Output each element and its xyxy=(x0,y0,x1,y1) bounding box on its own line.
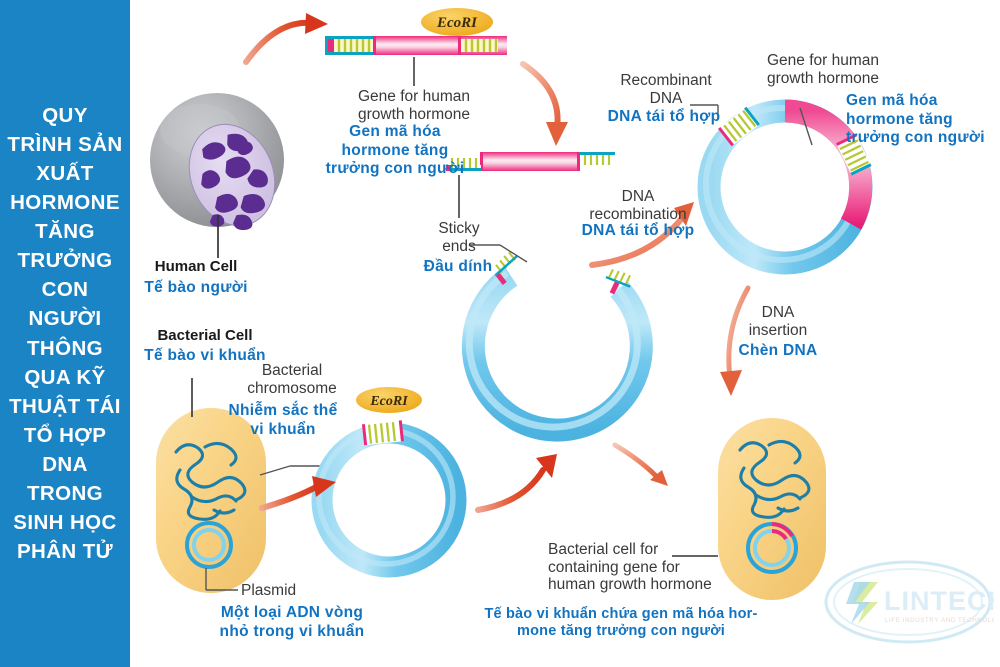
gene-hgh-top-label-en: Gene for human growth hormone xyxy=(334,88,494,123)
watermark-brand: LINTECH xyxy=(884,586,994,616)
human-dna-fragment-graphic xyxy=(325,36,507,86)
bacterial-cell-label-en: Bacterial Cell xyxy=(140,327,270,344)
dna-insertion-label-en: DNA insertion xyxy=(728,304,828,339)
bacterial-chromosome-label-vi: Nhiễm sắc thể vi khuẩn xyxy=(202,402,364,439)
arrow-human-to-dna xyxy=(246,13,328,62)
bacterial-chromosome-label-en: Bacterial chromosome xyxy=(224,362,360,397)
ecori-label-top-graphic: EcoRI xyxy=(421,8,493,36)
recombinant-dna-label-vi: DNA tái tổ hợp xyxy=(576,108,752,127)
recombinant-dna-label-en: Recombinant DNA xyxy=(594,72,738,107)
plasmid-label-vi: Một loại ADN vòng nhỏ trong vi khuẩn xyxy=(186,604,398,641)
diagram-canvas: QUY TRÌNH SẢN XUẤT HORMONE TĂNG TRƯỞNG C… xyxy=(0,0,1000,667)
arrow-plasmid-to-open xyxy=(478,454,557,510)
gene-hgh-top-label-vi: Gen mã hóa hormone tăng trưởng con người xyxy=(303,123,487,179)
human-cell-graphic xyxy=(150,93,289,258)
sticky-ends-label-vi: Đầu dính xyxy=(405,258,511,277)
lintech-watermark: LINTECH LIFE INDUSTRY AND TECHNOLOGY xyxy=(822,548,994,656)
human-cell-label-en: Human Cell xyxy=(130,258,262,275)
arrow-bacteria-to-plasmid xyxy=(262,476,336,508)
dna-insertion-label-vi: Chèn DNA xyxy=(716,342,840,361)
arrow-to-final-cell xyxy=(615,445,668,486)
sidebar-title-panel: QUY TRÌNH SẢN XUẤT HORMONE TĂNG TRƯỞNG C… xyxy=(0,0,130,667)
sticky-ends-label-en: Sticky ends xyxy=(412,220,506,255)
final-cell-label-en: Bacterial cell for containing gene for h… xyxy=(548,541,720,594)
svg-text:EcoRI: EcoRI xyxy=(369,394,408,409)
plasmid-label-en: Plasmid xyxy=(241,582,319,600)
human-cell-label-vi: Tế bào người xyxy=(128,279,264,298)
gene-hgh-right-label-vi: Gen mã hóa hormone tăng trưởng con người xyxy=(846,92,1000,148)
dna-recombination-label-en: DNA recombination xyxy=(570,188,706,223)
dna-recombination-label-vi: DNA tái tổ hợp xyxy=(552,222,724,241)
gene-hgh-right-label-en: Gene for human growth hormone xyxy=(742,52,904,87)
final-cell-label-vi: Tế bào vi khuẩn chứa gen mã hóa hor- mon… xyxy=(456,606,786,641)
svg-text:EcoRI: EcoRI xyxy=(436,15,478,31)
watermark-tagline: LIFE INDUSTRY AND TECHNOLOGY xyxy=(885,617,994,624)
arrow-dna-cut xyxy=(523,64,568,146)
sidebar-title-text: QUY TRÌNH SẢN XUẤT HORMONE TĂNG TRƯỞNG C… xyxy=(3,101,126,567)
